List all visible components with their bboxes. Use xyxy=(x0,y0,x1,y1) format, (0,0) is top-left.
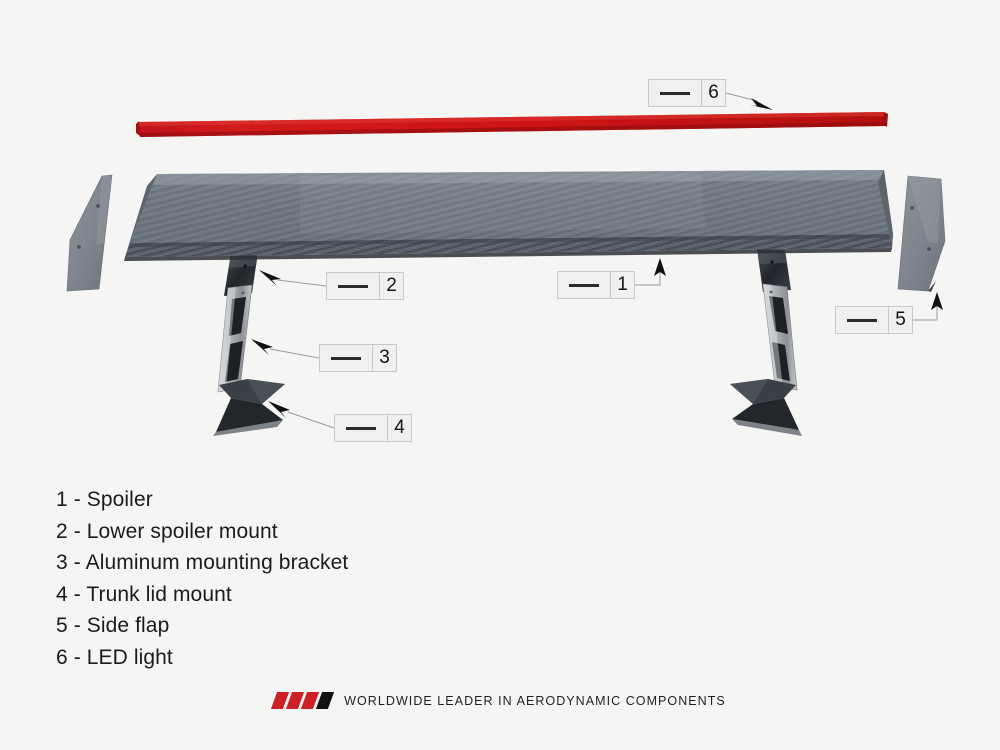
callout-3[interactable]: 3 xyxy=(319,344,397,372)
legend-item-4: 4 - Trunk lid mount xyxy=(56,579,348,611)
legend-item-1: 1 - Spoiler xyxy=(56,484,348,516)
dash-icon xyxy=(338,285,368,288)
legend-item-6: 6 - LED light xyxy=(56,642,348,674)
part-trunk-lid-mount-left xyxy=(213,379,285,436)
diagram-canvas: 1 2 3 4 5 6 1 - Spoiler 2 - Lower spoile… xyxy=(0,0,1000,750)
callout-dash-cell xyxy=(836,307,889,333)
callout-number: 1 xyxy=(611,272,634,298)
callout-1[interactable]: 1 xyxy=(557,271,635,299)
parts-legend: 1 - Spoiler 2 - Lower spoiler mount 3 - … xyxy=(56,484,348,673)
part-side-flap-left xyxy=(67,175,112,291)
callout-6[interactable]: 6 xyxy=(648,79,726,107)
legend-item-2: 2 - Lower spoiler mount xyxy=(56,516,348,548)
footer-branding: WORLDWIDE LEADER IN AERODYNAMIC COMPONEN… xyxy=(0,692,1000,709)
arrowhead-6 xyxy=(750,98,773,110)
callout-number: 2 xyxy=(380,273,403,299)
callout-dash-cell xyxy=(558,272,611,298)
footer-tagline: WORLDWIDE LEADER IN AERODYNAMIC COMPONEN… xyxy=(344,694,726,708)
part-trunk-lid-mount-right xyxy=(730,379,802,436)
part-led-light xyxy=(136,112,888,137)
part-spoiler-wing xyxy=(124,170,893,261)
logo-bar-black-1 xyxy=(316,692,334,709)
callout-dash-cell xyxy=(327,273,380,299)
dash-icon xyxy=(847,319,877,322)
callout-dash-cell xyxy=(649,80,702,106)
callout-number: 4 xyxy=(388,415,411,441)
callout-2[interactable]: 2 xyxy=(326,272,404,300)
part-side-flap-right xyxy=(898,176,945,292)
callout-5[interactable]: 5 xyxy=(835,306,913,334)
legend-item-3: 3 - Aluminum mounting bracket xyxy=(56,547,348,579)
callout-4[interactable]: 4 xyxy=(334,414,412,442)
leader-line-3 xyxy=(270,349,319,358)
part-aluminum-bracket-left xyxy=(218,285,252,392)
callout-dash-cell xyxy=(335,415,388,441)
leader-line-6 xyxy=(726,93,757,101)
dash-icon xyxy=(331,357,361,360)
callout-number: 5 xyxy=(889,307,912,333)
dash-icon xyxy=(660,92,690,95)
brand-logo-icon xyxy=(274,692,331,709)
leader-line-2 xyxy=(278,280,326,286)
leader-line-4 xyxy=(288,412,334,428)
legend-item-5: 5 - Side flap xyxy=(56,610,348,642)
arrowhead-3 xyxy=(251,339,273,355)
arrowhead-2 xyxy=(259,270,281,286)
dash-icon xyxy=(346,427,376,430)
callout-number: 6 xyxy=(702,80,725,106)
callout-number: 3 xyxy=(373,345,396,371)
part-aluminum-bracket-right xyxy=(763,284,797,390)
leader-lines xyxy=(270,93,937,428)
dash-icon xyxy=(569,284,599,287)
callout-dash-cell xyxy=(320,345,373,371)
